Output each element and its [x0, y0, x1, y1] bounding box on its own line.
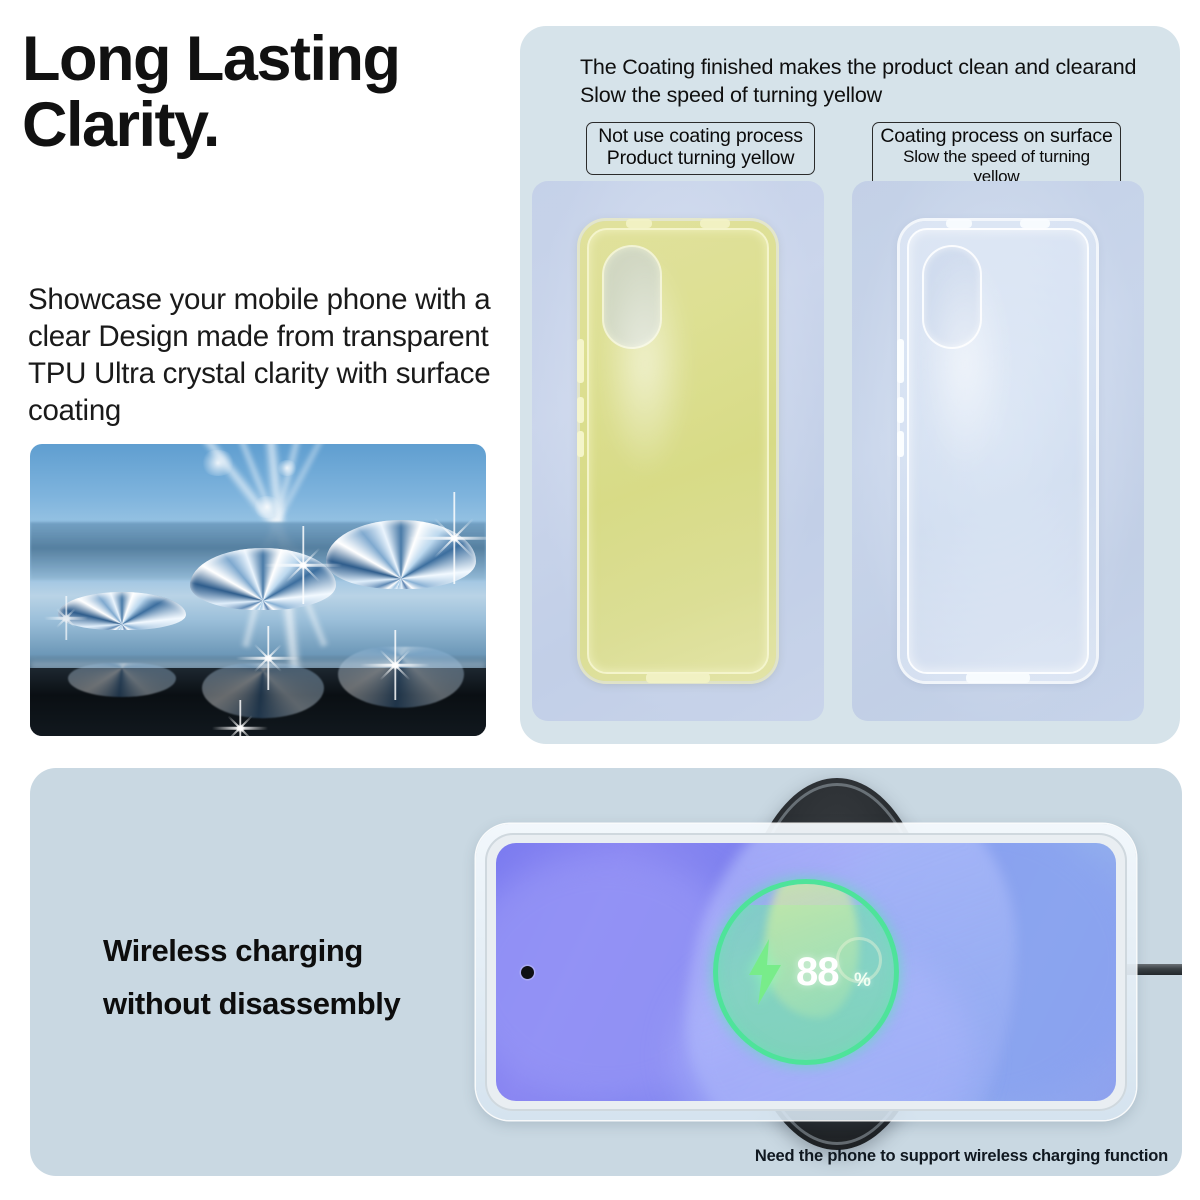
case-button-cutout: [577, 431, 584, 457]
coating-caption-line-1: The Coating finished makes the product c…: [580, 55, 1136, 79]
lens-flare-icon: [252, 496, 282, 518]
battery-charge-ring: 88 %: [713, 879, 899, 1065]
diamond-photo: [30, 444, 486, 736]
label-no-coating-line-2: Product turning yellow: [593, 147, 808, 169]
label-no-coating-line-1: Not use coating process: [593, 125, 808, 147]
diamond-pavilion: [66, 628, 179, 669]
lead-paragraph: Showcase your mobile phone with a clear …: [28, 281, 498, 430]
charging-title: Wireless charging without disassembly: [103, 924, 523, 1031]
battery-percent-unit: %: [854, 970, 871, 992]
case-gloss-highlight: [600, 249, 690, 479]
charging-title-line-1: Wireless charging: [103, 933, 363, 968]
clear-phone-case: [900, 221, 1096, 681]
coating-comparison-panel: The Coating finished makes the product c…: [520, 26, 1180, 744]
lightning-bolt-icon: [745, 939, 785, 1005]
coating-caption: The Coating finished makes the product c…: [580, 54, 1160, 109]
case-button-cutout: [897, 431, 904, 457]
case-port-cutout: [966, 673, 1030, 683]
front-camera-icon: [521, 966, 534, 979]
label-box-no-coating: Not use coating process Product turning …: [586, 122, 815, 175]
lens-flare-icon: [200, 450, 236, 476]
case-button-cutout: [897, 339, 904, 383]
case-button-cutout: [577, 397, 584, 423]
diamond-crown: [58, 592, 186, 630]
charging-footnote: Need the phone to support wireless charg…: [755, 1147, 1168, 1166]
page-title: Long Lasting Clarity.: [22, 26, 522, 158]
case-button-cutout: [897, 397, 904, 423]
diamond-large: [326, 520, 476, 652]
case-button-cutout: [577, 339, 584, 383]
diamond-small: [58, 592, 186, 666]
diamond-medium: [190, 548, 336, 668]
coating-caption-line-2: Slow the speed of turning yellow: [580, 83, 882, 107]
case-notch: [626, 219, 652, 228]
case-gloss-highlight: [920, 249, 1010, 479]
diamond-crown: [190, 548, 336, 610]
charging-title-line-2: without disassembly: [103, 986, 400, 1021]
diamond-crown: [326, 520, 476, 589]
phone-in-clear-case: 88 %: [476, 824, 1136, 1120]
case-notch: [946, 219, 972, 228]
case-photo-yellowed: [532, 181, 824, 721]
diamond-pavilion: [335, 583, 467, 657]
phone-screen: 88 %: [496, 843, 1116, 1101]
lens-flare-icon: [276, 460, 298, 476]
yellowed-phone-case: [580, 221, 776, 681]
label-with-coating-line-1: Coating process on surface: [879, 125, 1114, 147]
headline-line-1: Long Lasting: [22, 24, 399, 94]
case-notch: [700, 219, 730, 228]
case-notch: [1020, 219, 1050, 228]
case-photo-clear: [852, 181, 1144, 721]
headline-line-2: Clarity.: [22, 92, 522, 158]
case-port-cutout: [646, 673, 710, 683]
diamond-pavilion: [199, 606, 327, 673]
battery-percent-value: 88: [796, 950, 839, 995]
